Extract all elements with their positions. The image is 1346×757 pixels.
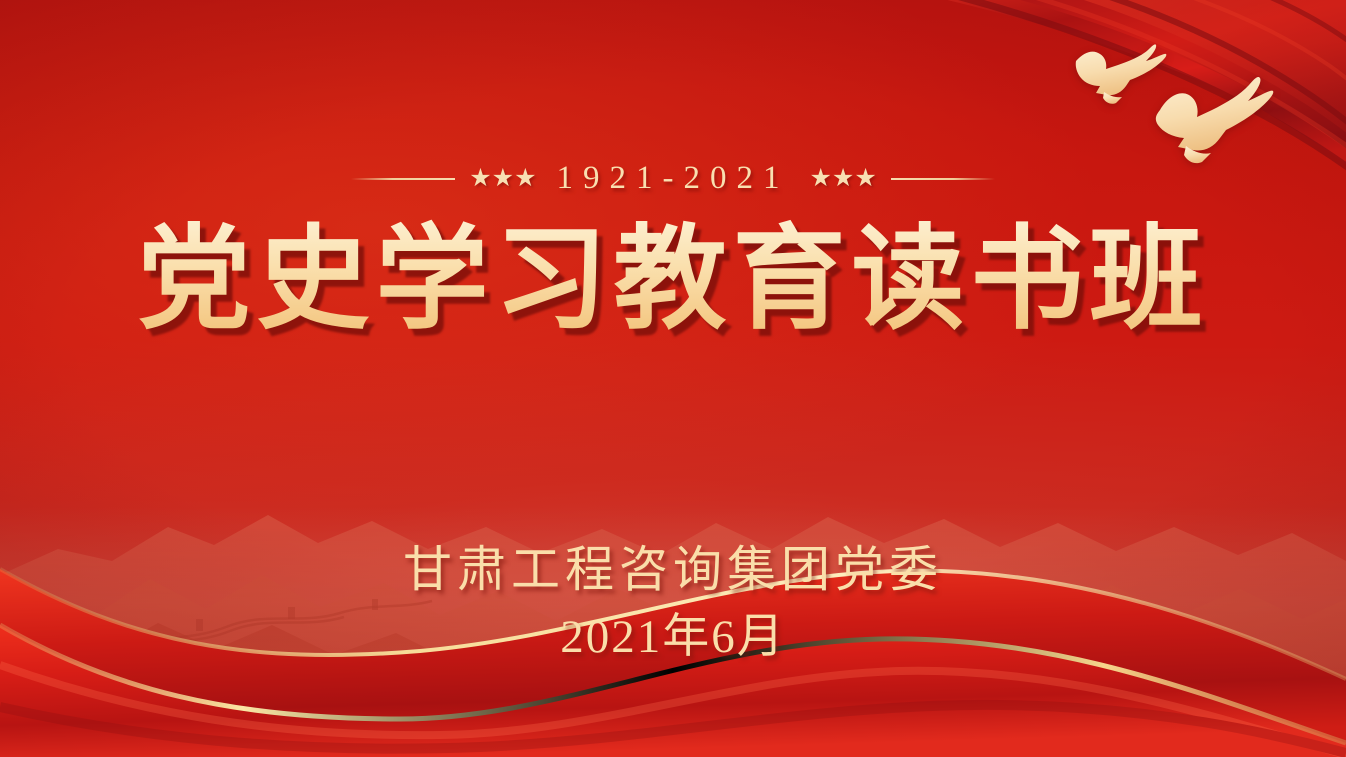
stars-left: ★★★	[469, 166, 536, 191]
slide-footer: 甘肃工程咨询集团党委 2021年6月	[0, 539, 1346, 665]
presentation-date: 2021年6月	[0, 609, 1346, 665]
divider-line-right	[891, 178, 995, 180]
organization-name: 甘肃工程咨询集团党委	[0, 539, 1346, 600]
year-banner: ★★★ 1921-2021 ★★★	[0, 160, 1346, 197]
slide-content: ★★★ 1921-2021 ★★★ 党史学习教育读书班 甘肃工程咨询集团党委 2…	[0, 0, 1346, 757]
divider-line-left	[351, 178, 455, 180]
year-range: 1921-2021	[551, 160, 796, 197]
page-title: 党史学习教育读书班	[0, 215, 1346, 346]
stars-right: ★★★	[810, 166, 877, 191]
title-slide: ★★★ 1921-2021 ★★★ 党史学习教育读书班 甘肃工程咨询集团党委 2…	[0, 0, 1346, 757]
